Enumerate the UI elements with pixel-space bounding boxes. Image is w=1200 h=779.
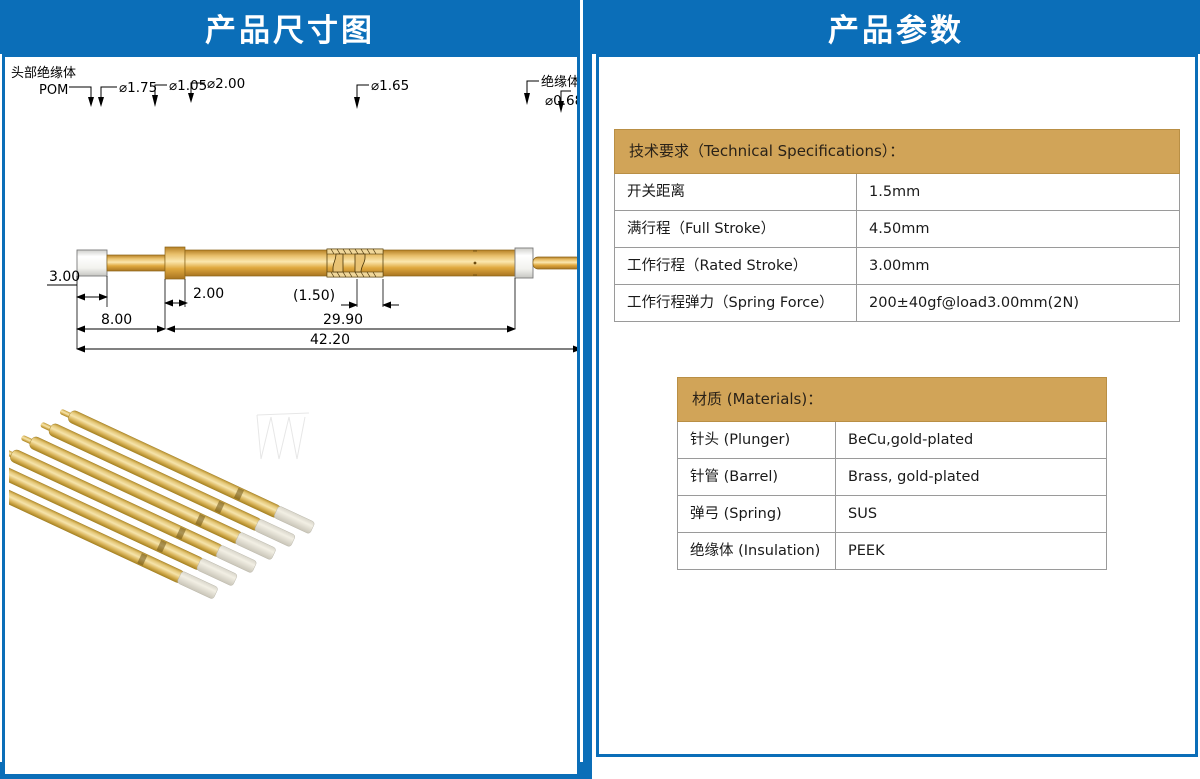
product-parameters-title: 产品参数 <box>828 5 964 50</box>
material-key-insulation: 绝缘体 (Insulation) <box>678 533 836 570</box>
spec-key-switch-distance: 开关距离 <box>615 173 857 210</box>
barrel-cutaway-detail <box>327 249 383 277</box>
table-header-row: 材质 (Materials)： <box>678 378 1107 422</box>
spec-key-spring-force: 工作行程弹力（Spring Force） <box>615 285 857 322</box>
panel-divider <box>583 0 592 779</box>
material-key-barrel: 针管 (Barrel) <box>678 458 836 495</box>
material-value-spring: SUS <box>836 496 1107 533</box>
callout-head-insulator-material: POM <box>39 83 68 98</box>
spec-value-full-stroke: 4.50mm <box>857 210 1180 247</box>
callout-dia-068: ⌀0.68 <box>545 93 577 109</box>
callout-head-insulator: 头部绝缘体 <box>11 65 76 81</box>
product-spec-sheet: 产品尺寸图 产品参数 <box>0 0 1200 779</box>
material-key-plunger: 针头 (Plunger) <box>678 421 836 458</box>
table-row: 针头 (Plunger) BeCu,gold-plated <box>678 421 1107 458</box>
dim-4220-label: 42.20 <box>310 332 350 348</box>
dim-300-label: 3.00 <box>49 269 80 285</box>
dim-150-label: (1.50) <box>293 288 335 304</box>
callout-dia-200: ⌀2.00 <box>207 76 245 92</box>
dim-200-label: 2.00 <box>193 286 224 302</box>
table-header-row: 技术要求（Technical Specifications）： <box>615 130 1180 174</box>
callout-dia-165: ⌀1.65 <box>371 78 409 94</box>
materials-table: 材质 (Materials)： 针头 (Plunger) BeCu,gold-p… <box>677 377 1107 570</box>
callout-dia-175: ⌀1.75 <box>119 80 157 96</box>
flange-shape <box>165 247 185 279</box>
dim-800-label: 8.00 <box>101 312 132 328</box>
material-key-spring: 弹弓 (Spring) <box>678 496 836 533</box>
table-row: 满行程（Full Stroke） 4.50mm <box>615 210 1180 247</box>
tail-pin-shape <box>533 257 577 269</box>
table-row: 开关距离 1.5mm <box>615 173 1180 210</box>
spec-value-rated-stroke: 3.00mm <box>857 248 1180 285</box>
table-row: 绝缘体 (Insulation) PEEK <box>678 533 1107 570</box>
plunger-shaft-shape <box>107 255 165 271</box>
material-value-plunger: BeCu,gold-plated <box>836 421 1107 458</box>
table-row: 工作行程（Rated Stroke） 3.00mm <box>615 248 1180 285</box>
callout-insulator: 绝缘体 <box>541 74 577 90</box>
callout-dia-105: ⌀1.05 <box>169 78 207 94</box>
spec-key-rated-stroke: 工作行程（Rated Stroke） <box>615 248 857 285</box>
table-row: 工作行程弹力（Spring Force） 200±40gf@load3.00mm… <box>615 285 1180 322</box>
tech-specs-header: 技术要求（Technical Specifications）： <box>615 130 1180 174</box>
drawing-panel: 头部绝缘体 POM ⌀1.75 ⌀1.05 ⌀2.00 ⌀1.65 绝缘体 ⌀0… <box>2 54 580 777</box>
table-row: 针管 (Barrel) Brass, gold-plated <box>678 458 1107 495</box>
spec-value-spring-force: 200±40gf@load3.00mm(2N) <box>857 285 1180 322</box>
dim-2990-label: 29.90 <box>323 312 363 328</box>
spec-key-full-stroke: 满行程（Full Stroke） <box>615 210 857 247</box>
table-row: 弹弓 (Spring) SUS <box>678 496 1107 533</box>
dimension-drawing-header: 产品尺寸图 <box>0 0 580 54</box>
product-parameters-header: 产品参数 <box>592 0 1200 54</box>
technical-drawing: 头部绝缘体 POM ⌀1.75 ⌀1.05 ⌀2.00 ⌀1.65 绝缘体 ⌀0… <box>5 57 577 357</box>
dimension-drawing-title: 产品尺寸图 <box>205 5 375 50</box>
pom-head-insulator-shape <box>77 250 107 276</box>
parameters-panel: 技术要求（Technical Specifications）： 开关距离 1.5… <box>596 54 1198 757</box>
material-value-insulation: PEEK <box>836 533 1107 570</box>
technical-specifications-table: 技术要求（Technical Specifications）： 开关距离 1.5… <box>614 129 1180 322</box>
tail-insulator-shape <box>515 248 533 278</box>
material-value-barrel: Brass, gold-plated <box>836 458 1107 495</box>
spec-value-switch-distance: 1.5mm <box>857 173 1180 210</box>
materials-header: 材质 (Materials)： <box>678 378 1107 422</box>
